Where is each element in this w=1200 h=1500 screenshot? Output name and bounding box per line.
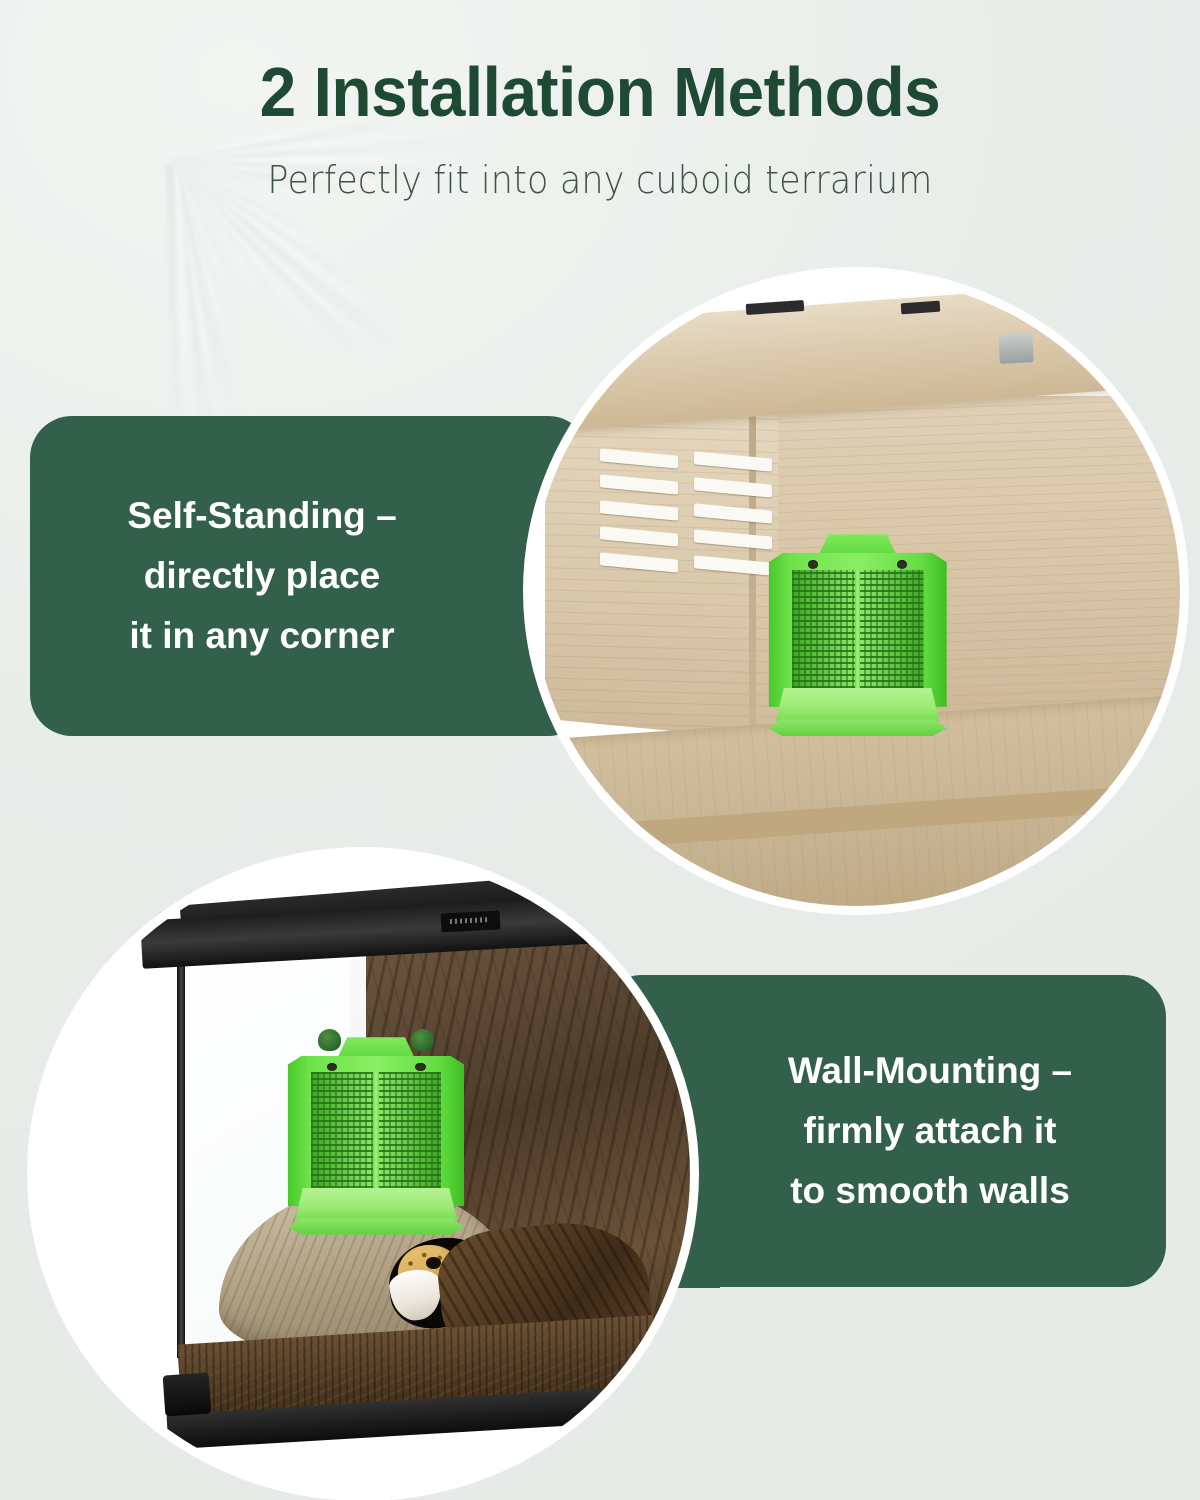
feeder-mesh-panel <box>792 570 924 688</box>
product-feeder-wall-mounted <box>288 1037 465 1241</box>
frame-corner-post <box>177 932 186 1358</box>
ventilation-slots-left <box>600 449 678 573</box>
feeder-tray <box>295 1188 457 1221</box>
callout-line: it in any corner <box>30 606 494 666</box>
glass-terrarium-scene <box>36 856 690 1492</box>
page-title: 2 Installation Methods <box>36 52 1164 132</box>
wooden-terrarium-scene <box>532 276 1180 906</box>
frame-bottom-foot <box>162 1373 211 1417</box>
header: 2 Installation Methods Perfectly fit int… <box>0 0 1200 202</box>
callout-line: Wall-Mounting – <box>694 1041 1166 1101</box>
callout-line: directly place <box>30 546 494 606</box>
feeder-base <box>288 1218 465 1234</box>
callout-line: firmly attach it <box>694 1101 1166 1161</box>
product-feeder-standing <box>769 534 947 742</box>
callout-line: Self-Standing – <box>30 486 494 546</box>
suction-cup-icon <box>318 1029 341 1051</box>
photo-self-standing <box>532 276 1180 906</box>
wood-corner-seam <box>749 396 756 761</box>
feeder-tray <box>776 688 940 721</box>
suction-cup-icon <box>411 1029 434 1051</box>
ventilation-slots-right <box>694 451 772 575</box>
page-subtitle: Perfectly fit into any cuboid terrarium <box>48 158 1152 202</box>
feeder-mount-hole <box>415 1063 426 1072</box>
feeder-base <box>769 719 947 736</box>
lid-screw-icon <box>998 333 1033 364</box>
photo-wall-mounting <box>36 856 690 1492</box>
feeder-mesh-panel <box>311 1072 442 1188</box>
brand-label <box>441 910 501 932</box>
callout-line: to smooth walls <box>694 1161 1166 1221</box>
callout-card-self-standing: Self-Standing – directly place it in any… <box>30 416 590 736</box>
